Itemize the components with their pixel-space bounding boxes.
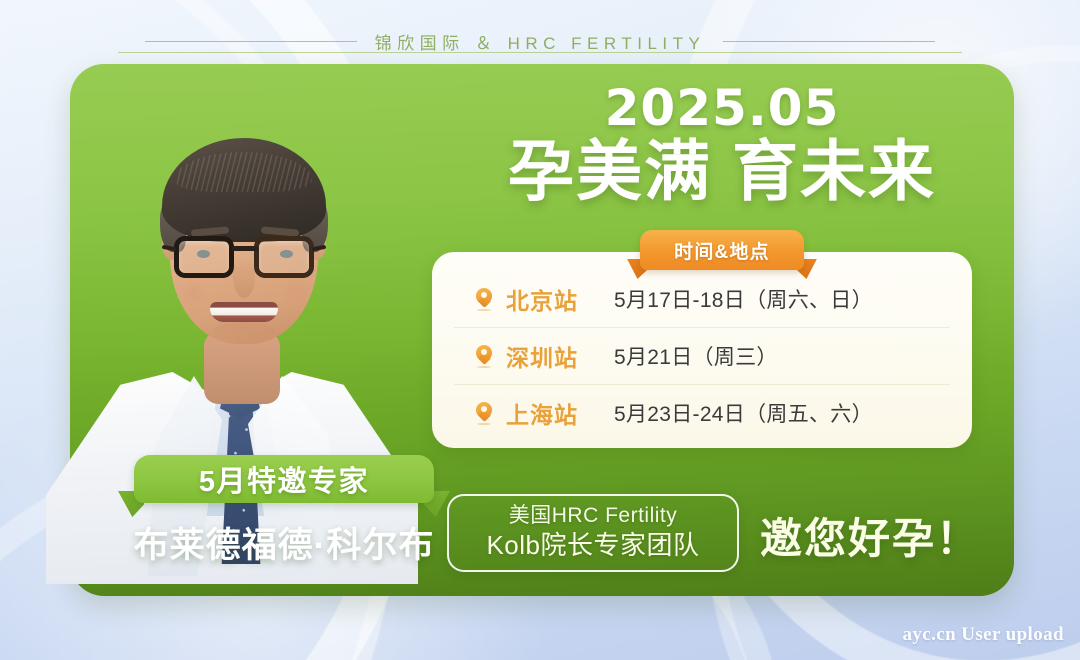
schedule-badge-label: 时间&地点: [674, 237, 770, 264]
hero-slogan-part2: 育未来: [732, 134, 936, 208]
brand-title: 锦欣国际 ＆ HRC FERTILITY: [375, 29, 706, 54]
map-pin-dot: [481, 349, 487, 355]
schedule-card: 北京站 5月17日-18日（周六、日） 深圳站 5月21日（周三） 上海站 5月…: [432, 252, 972, 448]
doctor-cheek-left: [180, 276, 206, 308]
schedule-badge: 时间&地点: [640, 230, 804, 270]
team-org-name: 美国HRC Fertility: [509, 504, 678, 528]
eyeglass-lens-left: [174, 236, 234, 278]
expert-name: 布莱德福德·科尔布: [104, 517, 464, 568]
team-badge: 美国HRC Fertility Kolb院长专家团队: [447, 494, 739, 572]
schedule-badge-zone: 时间&地点: [430, 230, 1014, 274]
hero-slogan: 孕美满育未来: [430, 137, 1014, 206]
hero-year: 2025.05: [430, 82, 1014, 135]
hero-slogan-part1: 孕美满: [508, 134, 712, 208]
expert-ribbon-label: 5月特邀专家: [199, 458, 369, 500]
cta-text: 邀您好孕！: [760, 505, 1000, 566]
expert-ribbon: 5月特邀专家: [134, 455, 434, 503]
map-pin-icon: [476, 345, 492, 367]
doctor-chin: [212, 322, 276, 342]
doctor-nose: [233, 256, 255, 298]
brand-underline: [118, 52, 962, 53]
doctor-hair: [162, 138, 326, 242]
hero-title-block: 2025.05 孕美满育未来: [430, 82, 1014, 206]
brand-rule-left: [145, 41, 357, 42]
brand-rule-right: [723, 41, 935, 42]
team-title: Kolb院长专家团队: [486, 530, 699, 561]
map-pin-dot: [481, 292, 487, 298]
banner-canvas: 锦欣国际 ＆ HRC FERTILITY 2025.05 孕美满育未来 北京站 …: [0, 0, 1080, 660]
map-pin-icon: [476, 402, 492, 424]
eyeglass-bridge: [232, 246, 258, 251]
schedule-date: 5月21日（周三）: [614, 341, 778, 371]
map-pin-shadow: [477, 309, 491, 311]
schedule-date: 5月23日-24日（周五、六）: [614, 398, 873, 428]
schedule-row[interactable]: 上海站 5月23日-24日（周五、六）: [432, 384, 972, 441]
schedule-row[interactable]: 北京站 5月17日-18日（周六、日）: [432, 270, 972, 327]
watermark: ayc.cn User upload: [902, 624, 1064, 646]
schedule-date: 5月17日-18日（周六、日）: [614, 284, 873, 314]
doctor-cheek-right: [282, 276, 308, 308]
schedule-row[interactable]: 深圳站 5月21日（周三）: [432, 327, 972, 384]
schedule-city: 上海站: [506, 396, 614, 430]
map-pin-shadow: [477, 366, 491, 368]
eyeglass-lens-right: [254, 236, 314, 278]
schedule-city: 深圳站: [506, 339, 614, 373]
doctor-mouth: [210, 302, 278, 322]
schedule-city: 北京站: [506, 282, 614, 316]
map-pin-shadow: [477, 423, 491, 425]
expert-block: 5月特邀专家 布莱德福德·科尔布: [104, 455, 464, 568]
map-pin-icon: [476, 288, 492, 310]
map-pin-dot: [481, 406, 487, 412]
